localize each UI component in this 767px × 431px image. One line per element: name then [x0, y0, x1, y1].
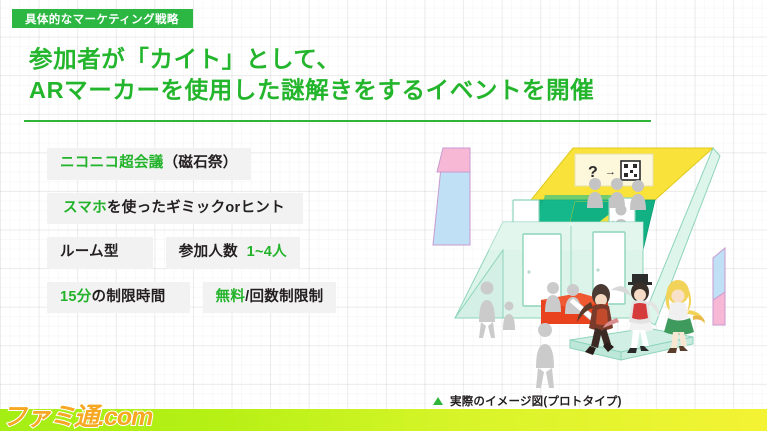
detail-box-price: 無料/回数制限制 [203, 282, 337, 314]
detail-row-event: ニコニコ超会議（磁石祭） [47, 148, 397, 180]
detail-room-type-label: ルーム型 [60, 244, 119, 260]
detail-price-rest: /回数制限制 [245, 289, 323, 305]
detail-box-participants: 参加人数 1~4人 [166, 237, 300, 269]
ar-marker-icon [621, 161, 640, 180]
triangle-bullet-icon [433, 397, 443, 405]
detail-gimmick-highlight: スマホ [63, 200, 107, 216]
left-floor-wedge [455, 250, 503, 318]
headline-line-2: ARマーカーを使用した謎解きをするイベントを開催 [29, 75, 594, 106]
detail-box-list: ニコニコ超会議（磁石祭） スマホを使ったギミックorヒント ルーム型 参加人数 … [47, 148, 397, 326]
section-banner: 具体的なマーケティング戦略 [12, 9, 193, 28]
title-divider [24, 120, 651, 122]
detail-row-time-price: 15分の制限時間 無料/回数制限制 [47, 282, 397, 314]
slide-root: 具体的なマーケティング戦略 参加者が「カイト」として、 ARマーカーを使用した謎… [0, 0, 767, 431]
detail-time-highlight: 15分 [60, 289, 92, 305]
page-title: 参加者が「カイト」として、 ARマーカーを使用した謎解きをするイベントを開催 [29, 44, 594, 106]
main-door-1 [523, 234, 561, 306]
detail-row-params: ルーム型 参加人数 1~4人 [47, 237, 397, 269]
headline-line-1: 参加者が「カイト」として、 [29, 46, 340, 72]
detail-gimmick-rest: を使ったギミックorヒント [107, 200, 285, 216]
detail-box-room-type: ルーム型 [47, 237, 153, 269]
detail-event-rest: （磁石祭） [164, 155, 238, 171]
detail-event-highlight: ニコニコ超会議 [60, 155, 164, 171]
detail-time-rest: の制限時間 [92, 289, 166, 305]
detail-participants-value: 1~4人 [247, 244, 287, 260]
figure-caption-text: 実際のイメージ図(プロトタイプ) [450, 393, 622, 409]
detail-price-highlight: 無料 [216, 289, 246, 305]
detail-participants-label: 参加人数 [179, 244, 238, 260]
right-decor-panel [713, 248, 725, 325]
detail-box-time-limit: 15分の制限時間 [47, 282, 190, 314]
svg-text:→: → [605, 166, 616, 178]
prototype-illustration: ? → [425, 140, 760, 395]
figure-caption: 実際のイメージ図(プロトタイプ) [433, 393, 622, 409]
site-watermark: ファミ通.com [2, 400, 152, 430]
left-decor-panel [433, 148, 470, 245]
detail-box-event: ニコニコ超会議（磁石祭） [47, 148, 251, 180]
detail-box-gimmick: スマホを使ったギミックorヒント [47, 193, 303, 225]
detail-row-gimmick: スマホを使ったギミックorヒント [47, 193, 397, 225]
